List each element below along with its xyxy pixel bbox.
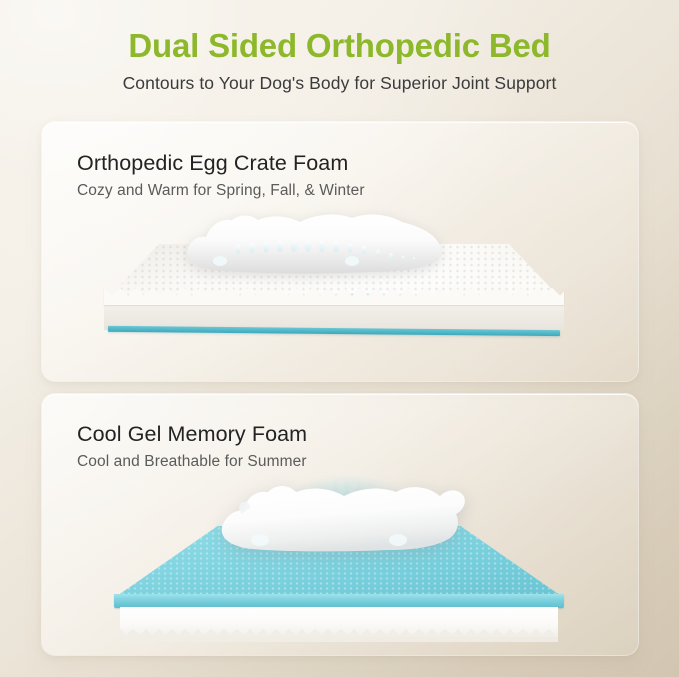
card-subtitle: Cozy and Warm for Spring, Fall, & Winter xyxy=(77,182,365,200)
gel-front-edge xyxy=(114,594,564,608)
feature-card-orthopedic-egg-crate-foam: Orthopedic Egg Crate Foam Cozy and Warm … xyxy=(42,122,638,381)
feature-card-cool-gel-memory-foam: Cool Gel Memory Foam Cool and Breathable… xyxy=(42,394,638,655)
page-title: Dual Sided Orthopedic Bed xyxy=(0,27,679,66)
product-feature-page: Dual Sided Orthopedic Bed Contours to Yo… xyxy=(0,0,679,677)
card-header: Cool Gel Memory Foam Cool and Breathable… xyxy=(77,422,307,471)
card-title: Orthopedic Egg Crate Foam xyxy=(77,151,365,176)
card-header: Orthopedic Egg Crate Foam Cozy and Warm … xyxy=(77,151,365,200)
egg-crate-zigzag-edge xyxy=(104,287,564,305)
dog-silhouette-icon xyxy=(180,202,450,280)
base-zigzag-edge xyxy=(120,629,558,642)
dog-silhouette-icon xyxy=(202,470,482,562)
egg-crate-foam-illustration xyxy=(42,210,638,375)
cool-gel-foam-illustration xyxy=(42,478,638,653)
card-subtitle: Cool and Breathable for Summer xyxy=(77,453,307,471)
card-title: Cool Gel Memory Foam xyxy=(77,422,307,447)
page-header: Dual Sided Orthopedic Bed Contours to Yo… xyxy=(0,0,679,94)
page-subtitle: Contours to Your Dog's Body for Superior… xyxy=(0,73,679,94)
